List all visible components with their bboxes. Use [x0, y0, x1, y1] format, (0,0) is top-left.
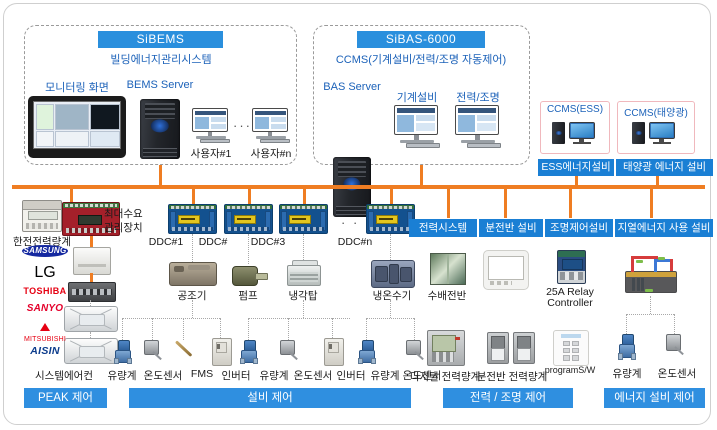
geothermal-system-icon: [622, 252, 680, 296]
bas-server-label: BAS Server: [323, 81, 380, 93]
mitsubishi-triangle-icon: [40, 323, 50, 331]
geo-to-flowmeter-line: [626, 314, 627, 334]
controller-to-gateway-line: [90, 236, 93, 247]
panel-meter-2-icon: [513, 332, 535, 364]
field-label-flowmeter-2: 유량계: [260, 368, 289, 383]
digital-power-meter-icon: [427, 330, 465, 366]
field-label-fms: FMS: [191, 368, 213, 380]
lighting-switch-pad-icon: [553, 330, 589, 366]
chiller-icon: [371, 260, 415, 288]
field-label-flowmeter-1: 유량계: [108, 368, 137, 383]
lg-circle-icon: LG: [34, 264, 55, 281]
bus-drop-ddc1: [192, 189, 195, 204]
brand-mitsubishi-text: MITSUBISHI: [22, 336, 68, 343]
pump-label: 펌프: [238, 288, 257, 303]
bems-badge: SiBEMS: [98, 31, 223, 48]
brand-samsung-logo: SAMSUNG: [22, 245, 68, 257]
bus-drop-ddcn: [390, 189, 393, 204]
geo-trunk-line: [650, 296, 651, 314]
bas-badge: SiBAS-6000: [357, 31, 485, 48]
inverter-1-icon: [212, 338, 232, 366]
ahu-icon: [169, 262, 217, 286]
user-n-label: 사용자#n: [251, 146, 292, 161]
brand-toshiba-logo: TOSHIBA: [22, 286, 68, 296]
panel-meter-1-icon: [487, 332, 509, 364]
tempsensor-3-icon: [406, 340, 424, 364]
bus-drop-power-system: [447, 189, 450, 218]
drop-tempsensor-3: [414, 318, 415, 340]
drop-tempsensor-1: [152, 318, 153, 340]
power-lighting-workstation-icon: [453, 105, 505, 150]
ddcn-to-chiller-line: [390, 234, 391, 260]
switchgear-icon: [430, 253, 466, 285]
bas-ws2-label: 전력/조명: [456, 89, 500, 105]
brand-mitsubishi-logo: MITSUBISHI: [22, 318, 68, 343]
chip-panelboard: 분전반 설비: [479, 219, 543, 237]
ddc1-field-branch: [122, 318, 220, 319]
ddc1-to-ahu-line: [192, 234, 193, 262]
main-bus-line: [12, 185, 705, 189]
geo-to-tempsensor-line: [674, 314, 675, 334]
system-architecture-diagram: SiBEMS 빌딩에너지관리시스템 모니터링 화면 BEMS Server 사용…: [0, 0, 717, 430]
ddc1-field-trunk: [192, 300, 193, 318]
ddc-1-label: DDC#1: [149, 236, 183, 248]
ddc2-to-pump-line: [248, 234, 249, 264]
ccms-solar-pc-icon: [632, 120, 678, 146]
ess-energy-chip: ESS에너지설비: [538, 159, 614, 176]
ddc-n-label: DDC#n: [338, 236, 372, 248]
relay-controller-icon: [557, 250, 586, 284]
field-label-flowmeter-3: 유량계: [371, 368, 400, 383]
program-sw-label: programS/W: [545, 365, 596, 375]
inverter-2-icon: [324, 338, 344, 366]
bems-server-label: BEMS Server: [127, 79, 194, 91]
ddc3-field-branch: [248, 318, 350, 319]
ddc3-field-trunk: [303, 300, 304, 318]
kepco-watt-meter-icon: [22, 200, 62, 232]
bus-drop-bems: [159, 165, 162, 187]
drop-flowmeter-1: [122, 318, 123, 340]
pump-icon: [230, 264, 268, 286]
field-label-tempsensor-2: 온도센서: [294, 368, 333, 383]
relay-label-line2: Controller: [547, 297, 593, 309]
bems-server-icon: [140, 99, 180, 159]
bus-drop-ddc3: [303, 189, 306, 204]
ddc3-to-ctower-line: [303, 234, 304, 260]
ddc-module-1-icon: [168, 204, 217, 234]
bems-subtitle: 빌딩에너지관리시스템: [110, 51, 211, 67]
user-workstation-1-icon: [190, 108, 234, 144]
ddcn-field-trunk: [390, 300, 391, 318]
user-1-label: 사용자#1: [191, 146, 232, 161]
geo-flowmeter-label: 유량계: [613, 366, 642, 381]
ac-interface-controller-icon: [68, 282, 116, 302]
system-aircon-label: 시스템에어컨: [35, 368, 93, 383]
control-bar-facility: 설비 제어: [129, 388, 411, 408]
monitoring-screen-icon: [28, 96, 126, 158]
tempsensor-2-icon: [280, 340, 298, 364]
bas-ws1-label: 기계설비: [397, 89, 437, 105]
brand-lg-logo: LG: [22, 264, 68, 282]
control-bar-energy-facility: 에너지 설비 제어: [604, 388, 705, 408]
mechanical-workstation-icon: [392, 105, 444, 150]
cooling-tower-icon: [286, 260, 322, 286]
solar-energy-chip: 태양광 에너지 설비: [616, 159, 713, 176]
ccms-ess-pc-icon: [552, 120, 598, 146]
gateway-box-icon: [73, 247, 111, 275]
peak-controller-label-line2: 관리장치: [104, 220, 143, 235]
ddcn-field-branch: [366, 318, 414, 319]
bas-subtitle: CCMS(기계설비/전력/조명 자동제어): [336, 51, 506, 67]
ddc-3-label: DDC#3: [251, 236, 285, 248]
chip-power-system: 전력시스템: [409, 219, 477, 237]
ccms-ess-title: CCMS(ESS): [547, 104, 603, 115]
brand-aisin-logo: AISIN: [22, 345, 68, 357]
field-label-tempsensor-1: 온도센서: [144, 368, 183, 383]
chiller-label: 냉온수기: [373, 288, 412, 303]
cassette-ac-2-icon: [64, 338, 118, 364]
bus-drop-lighting: [569, 189, 572, 218]
field-label-inverter-2: 인버터: [337, 368, 366, 383]
fms-1-icon: [176, 340, 192, 364]
ddc-module-n-icon: [366, 204, 415, 234]
panel-power-meter-label: 분전반 전력량계: [477, 369, 548, 384]
user-workstation-n-icon: [250, 108, 294, 144]
ddc-module-2-icon: [224, 204, 273, 234]
bems-monitor-label: 모니터링 화면: [45, 79, 109, 95]
field-label-inverter-1: 인버터: [222, 368, 251, 383]
bus-drop-geothermal: [650, 189, 653, 218]
drop-flowmeter-2: [248, 318, 249, 340]
ddc-module-3-icon: [279, 204, 328, 234]
control-bar-power-lighting: 전력 / 조명 제어: [443, 388, 573, 408]
geo-branch-line: [626, 314, 674, 315]
flowmeter-2-icon: [240, 340, 258, 364]
bus-drop-panelboard: [504, 189, 507, 218]
bus-drop-ddc2: [248, 189, 251, 204]
geo-tempsensor-label: 온도센서: [658, 366, 697, 381]
ddc-2-label: DDC#: [199, 236, 228, 248]
geo-tempsensor-icon: [666, 334, 684, 360]
gateway-to-greyctl-line: [90, 273, 93, 282]
drop-inverter-1: [220, 318, 221, 340]
panelboard-display-icon: [483, 250, 529, 290]
brand-sanyo-logo: SANYO: [22, 303, 68, 314]
control-bar-peak: PEAK 제어: [24, 388, 107, 408]
flowmeter-3-icon: [358, 340, 376, 364]
drop-inverter-2: [332, 318, 333, 340]
chip-geothermal: 지열에너지 사용 설비: [615, 219, 713, 237]
drop-tempsensor-2: [288, 318, 289, 340]
switchgear-label: 수배전반: [428, 288, 467, 303]
flowmeter-1-icon: [114, 340, 132, 364]
geo-flowmeter-icon: [618, 334, 636, 360]
chip-lighting-control: 조명제어설비: [545, 219, 613, 237]
field-label-tempsensor-3: 온도센서: [403, 368, 442, 383]
peak-controller-label-line1: 최대수요: [104, 206, 143, 221]
tempsensor-1-icon: [144, 340, 162, 364]
drop-fms-1: [183, 318, 184, 340]
ccms-solar-title: CCMS(태양광): [624, 104, 688, 119]
cassette-ac-1-icon: [64, 306, 118, 332]
bus-drop-bas: [420, 165, 423, 187]
drop-flowmeter-3: [366, 318, 367, 340]
